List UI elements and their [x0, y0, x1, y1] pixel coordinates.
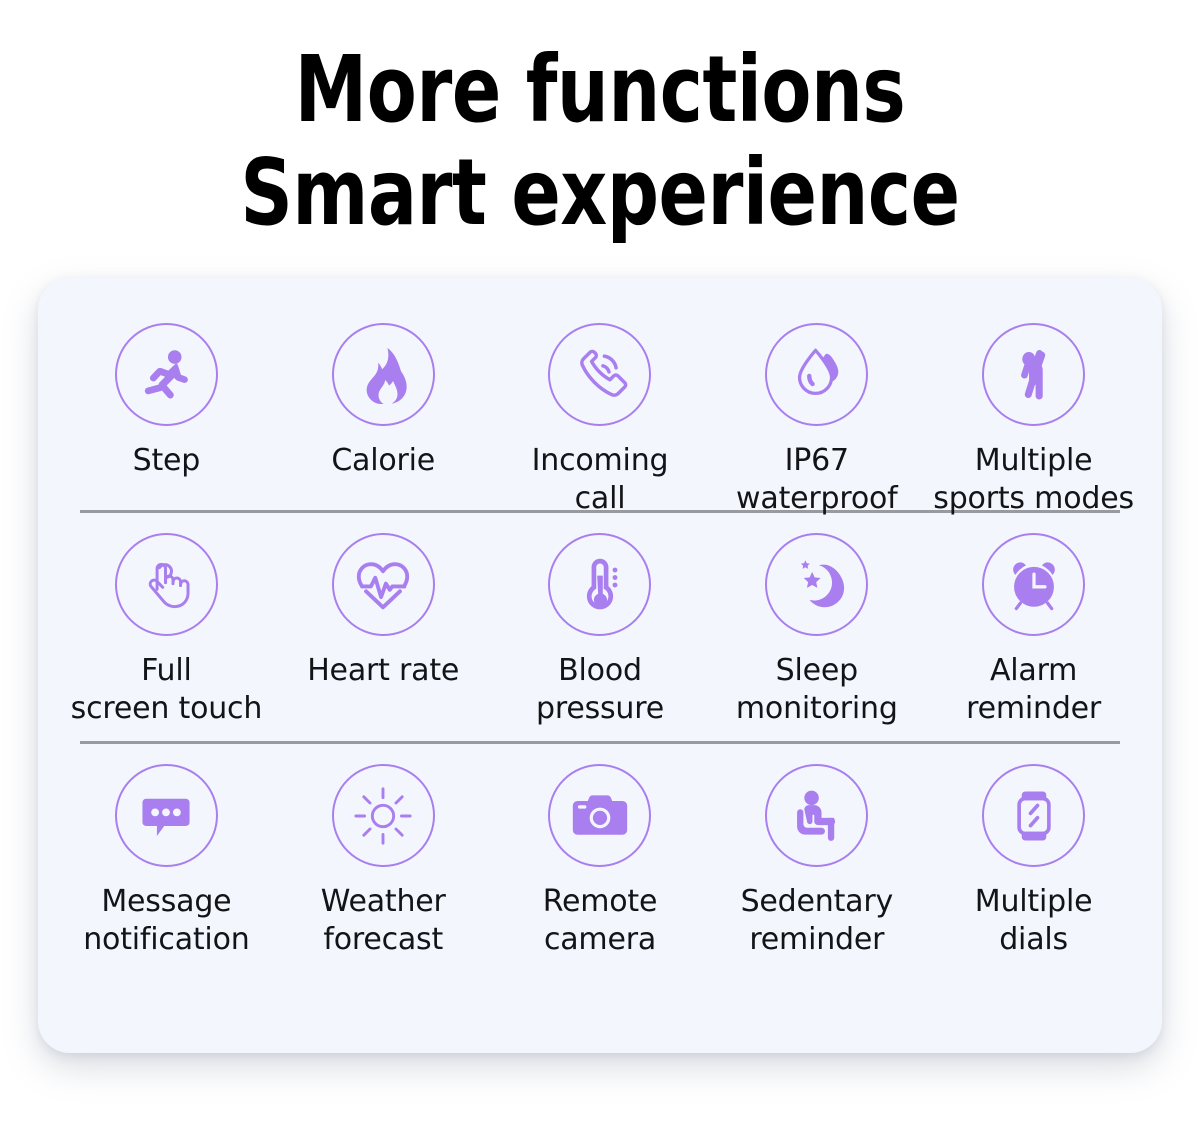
feature-item-sleep-monitoring[interactable]: Sleep monitoring [708, 533, 925, 728]
feature-label: Incoming call [532, 442, 669, 518]
feature-label: Full screen touch [71, 652, 263, 728]
feature-item-step[interactable]: Step [58, 323, 275, 480]
feature-label: Blood pressure [536, 652, 664, 728]
feature-label: Multiple sports modes [933, 442, 1134, 518]
camera-icon [548, 764, 651, 867]
feature-item-heart-rate[interactable]: Heart rate [275, 533, 492, 690]
message-bubble-icon [115, 764, 218, 867]
flame-icon [332, 323, 435, 426]
feature-item-blood-pressure[interactable]: Blood pressure [492, 533, 709, 728]
feature-label: Alarm reminder [966, 652, 1101, 728]
feature-label: Remote camera [543, 883, 658, 959]
feature-card: Step Calorie Incoming [38, 278, 1162, 1053]
sitting-person-icon [765, 764, 868, 867]
feature-item-waterproof[interactable]: IP67 waterproof [708, 323, 925, 518]
touch-hand-icon [115, 533, 218, 636]
feature-item-sedentary-reminder[interactable]: Sedentary reminder [708, 764, 925, 959]
alarm-clock-icon [982, 533, 1085, 636]
feature-label: Heart rate [307, 652, 459, 690]
feature-item-weather-forecast[interactable]: Weather forecast [275, 764, 492, 959]
feature-label: Weather forecast [321, 883, 446, 959]
running-person-icon [115, 323, 218, 426]
heart-pulse-icon [332, 533, 435, 636]
feature-grid: Step Calorie Incoming [58, 278, 1142, 1053]
feature-item-calorie[interactable]: Calorie [275, 323, 492, 480]
moon-stars-icon [765, 533, 868, 636]
feature-label: Step [133, 442, 201, 480]
feature-item-sports-modes[interactable]: Multiple sports modes [925, 323, 1142, 518]
feature-label: Sedentary reminder [741, 883, 893, 959]
phone-call-icon [548, 323, 651, 426]
water-drop-icon [765, 323, 868, 426]
feature-item-multiple-dials[interactable]: Multiple dials [925, 764, 1142, 959]
feature-row: Step Calorie Incoming [58, 278, 1142, 510]
page-title: More functions Smart experience [72, 0, 1128, 244]
smartwatch-icon [982, 764, 1085, 867]
feature-item-remote-camera[interactable]: Remote camera [492, 764, 709, 959]
feature-row: Message notification [58, 744, 1142, 974]
feature-label: Multiple dials [975, 883, 1093, 959]
page-title-line-1: More functions [72, 38, 1128, 141]
page-title-line-2: Smart experience [72, 141, 1128, 244]
thermometer-icon [548, 533, 651, 636]
feature-item-full-screen-touch[interactable]: Full screen touch [58, 533, 275, 728]
feature-row: Full screen touch Heart rate [58, 513, 1142, 741]
feature-label: Calorie [331, 442, 435, 480]
feature-item-message-notification[interactable]: Message notification [58, 764, 275, 959]
feature-item-alarm-reminder[interactable]: Alarm reminder [925, 533, 1142, 728]
stretching-person-icon [982, 323, 1085, 426]
feature-label: IP67 waterproof [736, 442, 897, 518]
feature-item-incoming-call[interactable]: Incoming call [492, 323, 709, 518]
feature-label: Message notification [83, 883, 249, 959]
feature-label: Sleep monitoring [736, 652, 898, 728]
sun-icon [332, 764, 435, 867]
